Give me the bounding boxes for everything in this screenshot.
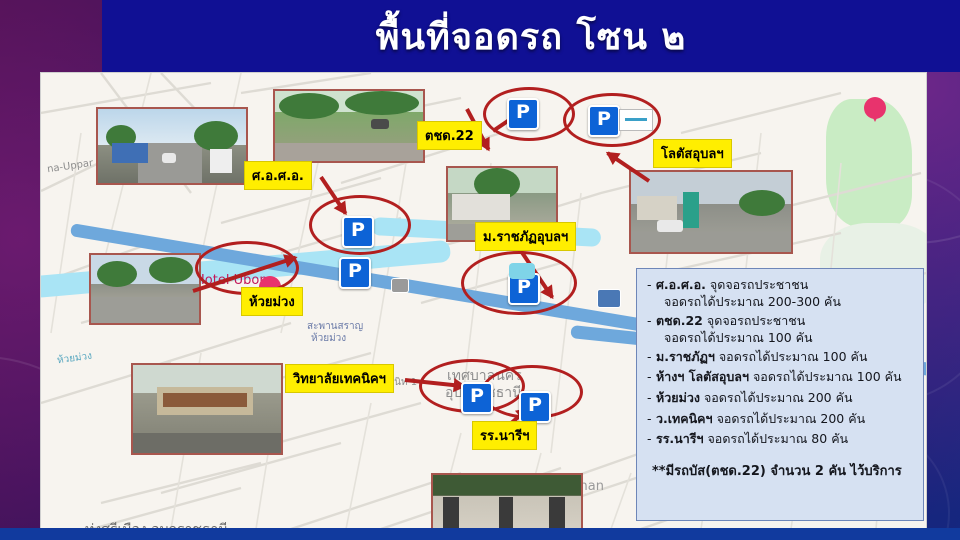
legend-note: **มีรถบัส(ตชด.22) จำนวน 2 คัน ไว้บริการ (647, 460, 913, 481)
legend-dash: - (647, 411, 656, 427)
map-label: ห้วยม่วง (311, 331, 346, 346)
map-poi-square-icon (597, 289, 621, 308)
legend-item: - ว.เทคนิคฯ จอดรถได้ประมาณ 200 คัน (647, 411, 913, 427)
slide-root: พื้นที่จอดรถ โซน ๒ na-Uppar V Hotel Ubon… (0, 0, 960, 540)
parking-marker-huai-muang[interactable]: P (339, 257, 371, 289)
legend-dash: - (647, 369, 656, 385)
photo-inset-lotus (629, 170, 793, 254)
parking-marker-so-o-so-o[interactable]: P (342, 216, 374, 248)
legend-dash: - (647, 390, 656, 406)
legend-item: - รร.นารีฯ จอดรถได้ประมาณ 80 คัน (647, 431, 913, 447)
legend-item-desc: จอดรถได้ประมาณ 200 คัน (704, 390, 853, 406)
annotation-label-technical-college: วิทยาลัยเทคนิคฯ (285, 364, 394, 393)
annotation-label-totchodo-22: ตชด.22 (417, 121, 482, 150)
rajabhat-water-icon (509, 263, 535, 279)
legend-item-name: ตชด.22 (656, 313, 703, 329)
photo-inset-so-o-so-o (96, 107, 248, 185)
legend-item-name: รร.นารีฯ (656, 431, 703, 447)
page-title: พื้นที่จอดรถ โซน ๒ (102, 0, 960, 72)
photo-inset-naree-school (431, 473, 583, 530)
lotus-sign-icon (619, 109, 653, 131)
legend-item-desc: จอดรถได้ประมาณ 100 คัน (753, 369, 902, 385)
photo-inset-huai-muang (89, 253, 201, 325)
parking-marker-totchodo-22[interactable]: P (507, 98, 539, 130)
annotation-label-naree-school: รร.นารีฯ (472, 421, 537, 450)
annotation-label-so-o-so-o: ศ.อ.ศ.อ. (244, 161, 312, 190)
legend-item-desc: จอดรถได้ประมาณ 80 คัน (707, 431, 848, 447)
bottom-strip (0, 528, 960, 540)
legend-item-name: ว.เทคนิคฯ (656, 411, 713, 427)
legend-item-desc: จุดจอรถประชาชน (710, 277, 808, 293)
map-poi-square-icon (391, 278, 409, 293)
slide-header: พื้นที่จอดรถ โซน ๒ (102, 0, 960, 72)
legend-dash: - (647, 349, 656, 365)
legend-item-name: ศ.อ.ศ.อ. (656, 277, 706, 293)
legend-item-name: ม.ราชภัฏฯ (656, 349, 715, 365)
annotation-label-huai-muang: ห้วยม่วง (241, 287, 303, 316)
legend-item: - ศ.อ.ศ.อ. จุดจอรถประชาชน (647, 277, 913, 293)
legend-item-sub: จอดรถได้ประมาณ 100 คัน (647, 330, 913, 346)
legend-dash: - (647, 431, 656, 447)
legend-dash: - (647, 277, 656, 293)
legend-item: - ห้วยม่วง จอดรถได้ประมาณ 200 คัน (647, 390, 913, 406)
map-poi-pin-icon (864, 97, 886, 119)
legend-item: - ตชด.22 จุดจอรถประชาชน (647, 313, 913, 329)
legend-item: - ม.ราชภัฏฯ จอดรถได้ประมาณ 100 คัน (647, 349, 913, 365)
annotation-label-lotus: โลตัสอุบลฯ (653, 139, 732, 168)
photo-inset-technical-college (131, 363, 283, 455)
legend-item-name: ห้วยม่วง (656, 390, 700, 406)
parking-marker-technical-college[interactable]: P (461, 382, 493, 414)
parking-marker-lotus[interactable]: P (588, 105, 620, 137)
legend-item-desc: จอดรถได้ประมาณ 100 คัน (719, 349, 868, 365)
annotation-label-rajabhat: ม.ราชภัฏอุบลฯ (475, 222, 576, 251)
parking-marker-naree-school[interactable]: P (519, 391, 551, 423)
legend-item-desc: จอดรถได้ประมาณ 200 คัน (717, 411, 866, 427)
legend-box: - ศ.อ.ศ.อ. จุดจอรถประชาชน จอดรถได้ประมาณ… (636, 268, 924, 521)
legend-item-name: ห้างฯ โลตัสอุบลฯ (656, 369, 749, 385)
legend-dash: - (647, 313, 656, 329)
legend-item-desc: จุดจอรถประชาชน (707, 313, 805, 329)
photo-inset-totchodo-22 (273, 89, 425, 163)
legend-item-sub: จอดรถได้ประมาณ 200-300 คัน (647, 294, 913, 310)
legend-item: - ห้างฯ โลตัสอุบลฯ จอดรถได้ประมาณ 100 คั… (647, 369, 913, 385)
